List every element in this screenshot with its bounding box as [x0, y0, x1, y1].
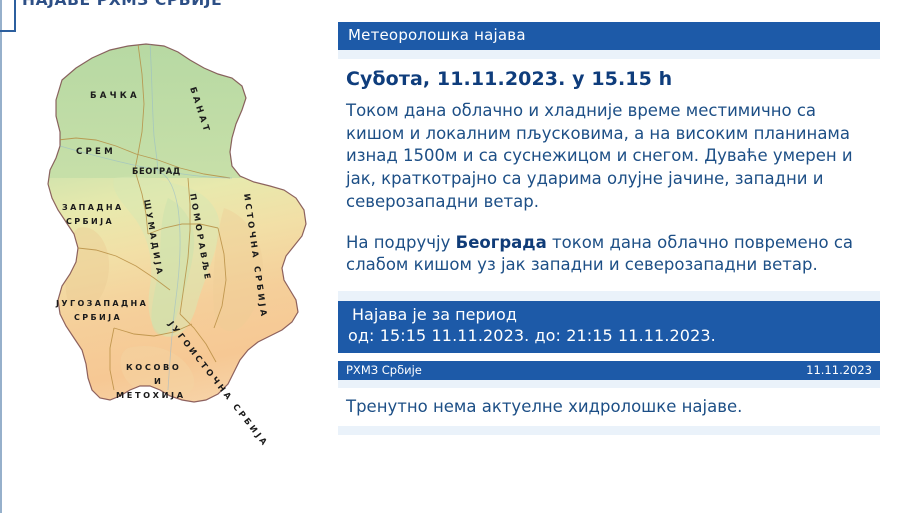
bottom-tint-band — [338, 426, 880, 435]
meteo-announcement-header: Метеоролошка најава — [338, 22, 880, 50]
map-label-backa: БАЧКА — [90, 91, 140, 101]
hydrological-notice: Тренутно нема актуелне хидролошке најаве… — [338, 388, 880, 416]
map-label-jugozapadna-srbija-line2: СРБИЈА — [74, 313, 122, 322]
left-border-rule — [0, 0, 2, 513]
validity-period-label: Најава је за период — [348, 305, 870, 326]
map-label-kosovo-line2: И — [154, 376, 163, 386]
map-label-kosovo-line1: КОСОВО — [126, 362, 181, 372]
map-label-jugozapadna-srbija-line1: ЈУГОЗАПАДНА — [55, 299, 148, 308]
rhmz-source-label: РХМЗ Србије — [346, 363, 422, 377]
forecast-paragraph-belgrade: На подручју Београда током дана облачно … — [338, 214, 880, 278]
page-root: НАЈАВЕ РХМЗ СРБИЈЕ — [0, 0, 906, 513]
validity-period-bar: Најава је за период од: 15:15 11.11.2023… — [338, 301, 880, 353]
map-label-kosovo-line3: МЕТОХИЈА — [116, 390, 186, 400]
forecast-paragraph-general: Током дана облачно и хладније време мест… — [338, 94, 880, 214]
belgrade-city-name: Београда — [456, 233, 547, 252]
map-label-beograd: БЕОГРАД — [132, 166, 181, 176]
period-footer-gap — [338, 353, 880, 361]
announcement-date: Субота, 11.11.2023. у 15.15 h — [338, 59, 880, 94]
map-label-zapadna-srbija-line1: ЗАПАДНА — [62, 203, 124, 212]
validity-period-range: од: 15:15 11.11.2023. до: 21:15 11.11.20… — [348, 326, 870, 347]
rhmz-source-date: 11.11.2023 — [806, 363, 872, 377]
rhmz-source-bar: РХМЗ Србије 11.11.2023 — [338, 361, 880, 380]
header-tint-band — [338, 50, 880, 59]
top-left-frame-fragment — [0, 0, 16, 32]
pre-period-tint-band — [338, 291, 880, 301]
serbia-relief-map: БАЧКА БАНАТ СРЕМ БЕОГРАД ЗАПАДНА СРБИЈА … — [18, 28, 328, 448]
hydro-tint-band — [338, 380, 880, 388]
page-title: НАЈАВЕ РХМЗ СРБИЈЕ — [22, 0, 222, 9]
announcement-panel: Метеоролошка најава Субота, 11.11.2023. … — [338, 22, 880, 435]
map-label-zapadna-srbija-line2: СРБИЈА — [66, 217, 114, 226]
belgrade-paragraph-pre: На подручју — [346, 233, 456, 252]
map-label-srem: СРЕМ — [76, 147, 116, 157]
